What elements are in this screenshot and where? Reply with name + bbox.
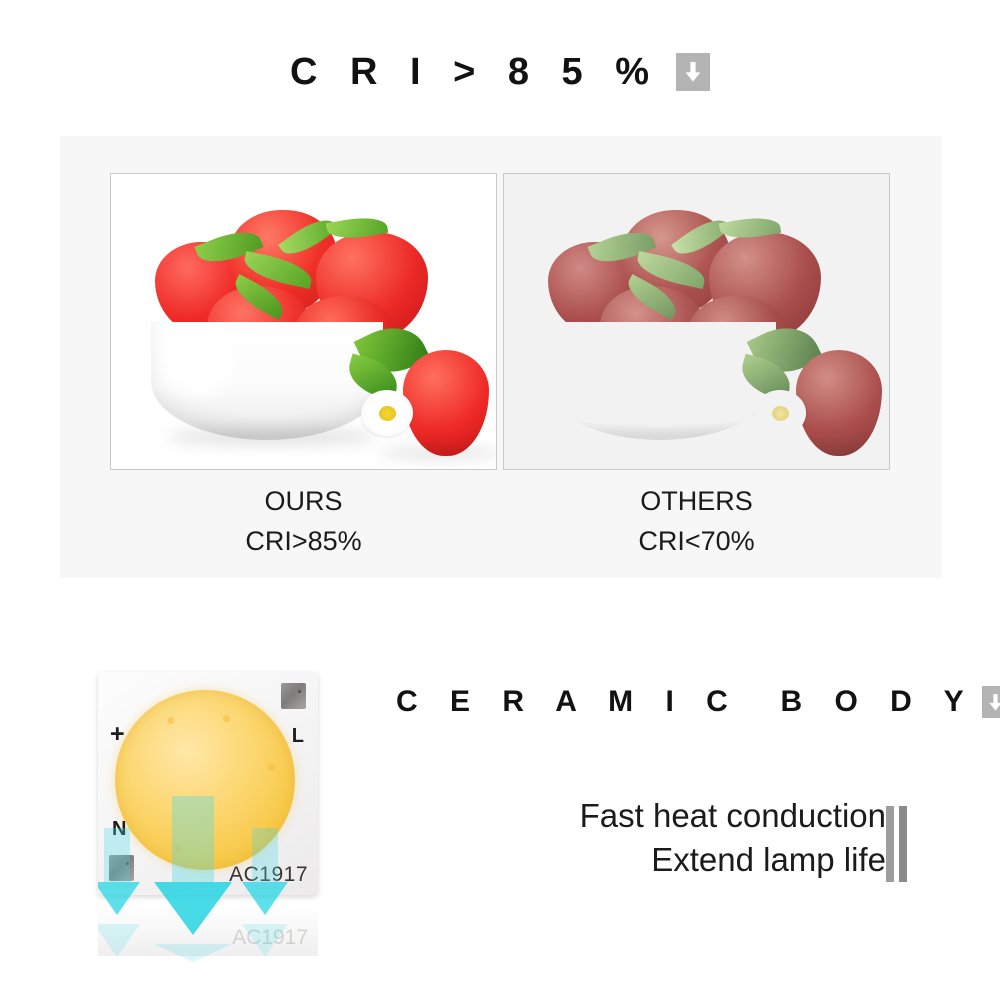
photo-box-others [503, 173, 890, 470]
accent-bar-left [886, 806, 894, 882]
caption-ours: OURS CRI>85% [110, 481, 497, 561]
chip-reflection-text: AC1917 [232, 926, 308, 950]
strawberry-scene-dull [504, 174, 889, 469]
ceramic-heading-row: C E R A M I C B O D Y [396, 686, 1000, 718]
benefit-accent-bars [886, 806, 907, 882]
photo-box-ours [110, 173, 497, 470]
cri-comparison-panel: OURS CRI>85% OTHERS CRI<70% [60, 136, 942, 578]
ceramic-benefits: Fast heat conduction Extend lamp life [420, 794, 886, 882]
strawberry-scene-vivid [111, 174, 496, 469]
chip-marking-l: L [292, 726, 304, 746]
caption-others: OTHERS CRI<70% [503, 481, 890, 561]
down-arrow-icon [982, 686, 1000, 718]
comparison-captions: OURS CRI>85% OTHERS CRI<70% [110, 481, 890, 561]
chip-substrate: + L N AC1917 [98, 672, 318, 895]
ceramic-heading-text: C E R A M I C B O D Y [396, 687, 976, 717]
chip-reflection: AC1917 [98, 896, 318, 956]
comparison-photo-row [110, 173, 890, 470]
caption-ours-title: OURS [264, 486, 342, 516]
chip-phosphor-circle [115, 690, 295, 870]
benefit-line-1: Fast heat conduction [420, 794, 886, 838]
cri-heading-text: C R I > 8 5 % [290, 53, 660, 91]
chip-marking-model: AC1917 [229, 864, 308, 885]
cri-heading-row: C R I > 8 5 % [0, 44, 1000, 100]
chip-marking-plus: + [110, 722, 125, 747]
cob-led-chip-image: + L N AC1917 [98, 672, 318, 895]
down-arrow-icon [676, 53, 710, 91]
caption-others-title: OTHERS [640, 486, 753, 516]
benefit-line-2: Extend lamp life [420, 838, 886, 882]
chip-marking-n: N [112, 819, 126, 839]
chip-solder-pad-bottom-left [109, 855, 134, 881]
caption-others-subtitle: CRI<70% [503, 521, 890, 561]
caption-ours-subtitle: CRI>85% [110, 521, 497, 561]
accent-bar-right [899, 806, 907, 882]
chip-solder-pad-top-right [281, 683, 306, 709]
